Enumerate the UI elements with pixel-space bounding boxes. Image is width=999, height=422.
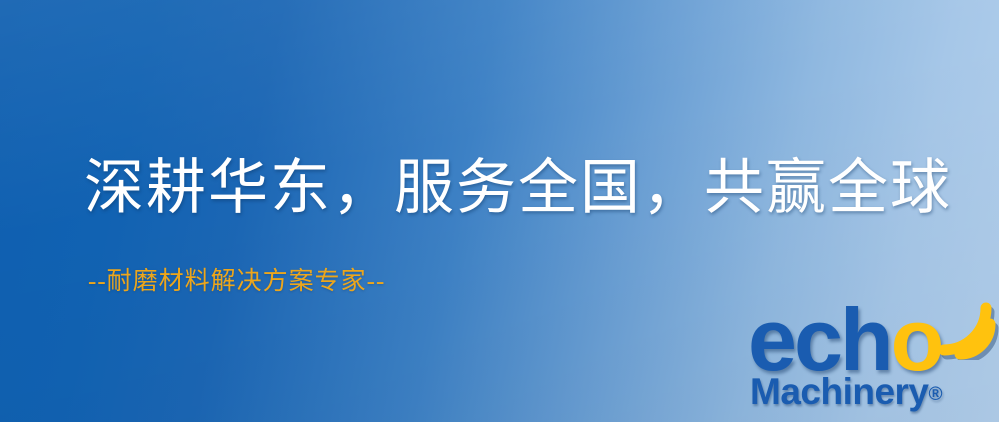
banner-subtitle: --耐磨材料解决方案专家-- bbox=[88, 266, 385, 298]
company-logo[interactable]: echo Machinery® bbox=[748, 296, 999, 422]
logo-subword-machinery: Machinery® bbox=[750, 372, 943, 415]
logo-subword-text: Machinery bbox=[750, 371, 929, 412]
echo-waves-icon bbox=[930, 294, 999, 360]
hero-banner: 深耕华东，服务全国，共赢全球 --耐磨材料解决方案专家-- echo Machi… bbox=[0, 0, 999, 422]
registered-trademark-icon: ® bbox=[929, 384, 943, 405]
banner-headline: 深耕华东，服务全国，共赢全球 bbox=[84, 154, 952, 222]
